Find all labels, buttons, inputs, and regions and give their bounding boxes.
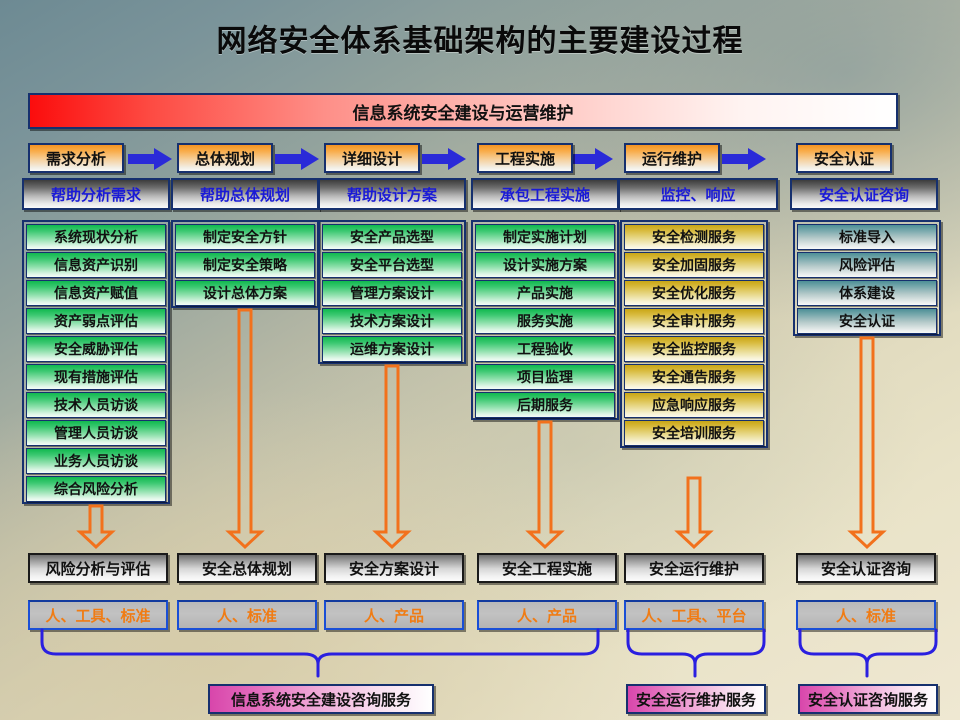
service-box-1[interactable]: 信息系统安全建设咨询服务: [208, 684, 434, 714]
task-item[interactable]: 安全优化服务: [624, 280, 764, 306]
task-item[interactable]: 技术方案设计: [322, 308, 462, 334]
task-item[interactable]: 应急响应服务: [624, 392, 764, 418]
phase-arrow-4: [569, 148, 613, 170]
page-title: 网络安全体系基础架构的主要建设过程: [0, 16, 960, 60]
task-item[interactable]: 技术人员访谈: [26, 392, 166, 418]
task-item[interactable]: 设计总体方案: [175, 280, 315, 306]
task-item[interactable]: 管理方案设计: [322, 280, 462, 306]
brace-operations: [626, 630, 766, 678]
task-item[interactable]: 现有措施评估: [26, 364, 166, 390]
task-item[interactable]: 项目监理: [475, 364, 615, 390]
task-item[interactable]: 标准导入: [797, 224, 937, 250]
task-item[interactable]: 体系建设: [797, 280, 937, 306]
task-item[interactable]: 设计实施方案: [475, 252, 615, 278]
flow-arrow-down-3: [374, 366, 410, 548]
outcome-box-4[interactable]: 安全工程实施: [477, 553, 617, 583]
task-item[interactable]: 产品实施: [475, 280, 615, 306]
task-item[interactable]: 业务人员访谈: [26, 448, 166, 474]
role-box-4[interactable]: 承包工程实施: [471, 178, 619, 210]
phase-header-2[interactable]: 总体规划: [177, 143, 273, 173]
outcome-box-3[interactable]: 安全方案设计: [324, 553, 464, 583]
task-item[interactable]: 资产弱点评估: [26, 308, 166, 334]
task-item[interactable]: 安全培训服务: [624, 420, 764, 446]
phase-arrow-2: [275, 148, 319, 170]
role-box-2[interactable]: 帮助总体规划: [171, 178, 319, 210]
outcome-box-2[interactable]: 安全总体规划: [177, 553, 317, 583]
phase-header-6[interactable]: 安全认证: [796, 143, 892, 173]
phase-arrow-5: [722, 148, 766, 170]
phase-header-5[interactable]: 运行维护: [624, 143, 720, 173]
resource-box-1[interactable]: 人、工具、标准: [28, 600, 168, 630]
phase-header-4[interactable]: 工程实施: [477, 143, 573, 173]
task-item[interactable]: 制定安全策略: [175, 252, 315, 278]
role-box-3[interactable]: 帮助设计方案: [318, 178, 466, 210]
task-item[interactable]: 安全认证: [797, 308, 937, 334]
task-item[interactable]: 后期服务: [475, 392, 615, 418]
flow-arrow-down-1: [78, 506, 114, 548]
task-item[interactable]: 安全威胁评估: [26, 336, 166, 362]
task-item[interactable]: 工程验收: [475, 336, 615, 362]
top-banner: 信息系统安全建设与运营维护: [28, 93, 898, 129]
brace-consulting: [40, 630, 600, 678]
service-box-3[interactable]: 安全认证咨询服务: [798, 684, 938, 714]
diagram-canvas: 网络安全体系基础架构的主要建设过程 信息系统安全建设与运营维护 需求分析 帮助分…: [0, 0, 960, 720]
role-box-6[interactable]: 安全认证咨询: [790, 178, 938, 210]
outcome-box-1[interactable]: 风险分析与评估: [28, 553, 168, 583]
resource-box-4[interactable]: 人、产品: [477, 600, 617, 630]
service-box-2[interactable]: 安全运行维护服务: [626, 684, 766, 714]
resource-box-5[interactable]: 人、工具、平台: [624, 600, 764, 630]
task-item[interactable]: 运维方案设计: [322, 336, 462, 362]
task-item[interactable]: 安全产品选型: [322, 224, 462, 250]
phase-header-3[interactable]: 详细设计: [324, 143, 420, 173]
task-item[interactable]: 服务实施: [475, 308, 615, 334]
task-item[interactable]: 制定安全方针: [175, 224, 315, 250]
task-item[interactable]: 管理人员访谈: [26, 420, 166, 446]
resource-box-2[interactable]: 人、标准: [177, 600, 317, 630]
task-item[interactable]: 安全检测服务: [624, 224, 764, 250]
task-item[interactable]: 安全通告服务: [624, 364, 764, 390]
role-box-1[interactable]: 帮助分析需求: [22, 178, 170, 210]
outcome-box-6[interactable]: 安全认证咨询: [796, 553, 936, 583]
task-item[interactable]: 综合风险分析: [26, 476, 166, 502]
task-item[interactable]: 制定实施计划: [475, 224, 615, 250]
phase-arrow-1: [128, 148, 172, 170]
task-item[interactable]: 安全监控服务: [624, 336, 764, 362]
task-item[interactable]: 系统现状分析: [26, 224, 166, 250]
outcome-box-5[interactable]: 安全运行维护: [624, 553, 764, 583]
flow-arrow-down-4: [527, 422, 563, 548]
flow-arrow-down-2: [227, 310, 263, 548]
resource-box-3[interactable]: 人、产品: [324, 600, 464, 630]
task-item[interactable]: 信息资产赋值: [26, 280, 166, 306]
phase-arrow-3: [422, 148, 466, 170]
task-item[interactable]: 安全平台选型: [322, 252, 462, 278]
flow-arrow-down-6: [849, 338, 885, 548]
task-item[interactable]: 安全加固服务: [624, 252, 764, 278]
task-item[interactable]: 安全审计服务: [624, 308, 764, 334]
role-box-5[interactable]: 监控、响应: [618, 178, 778, 210]
brace-certification: [798, 630, 938, 678]
flow-arrow-down-5: [676, 478, 712, 548]
phase-header-1[interactable]: 需求分析: [28, 143, 124, 173]
task-item[interactable]: 风险评估: [797, 252, 937, 278]
task-item[interactable]: 信息资产识别: [26, 252, 166, 278]
resource-box-6[interactable]: 人、标准: [796, 600, 936, 630]
